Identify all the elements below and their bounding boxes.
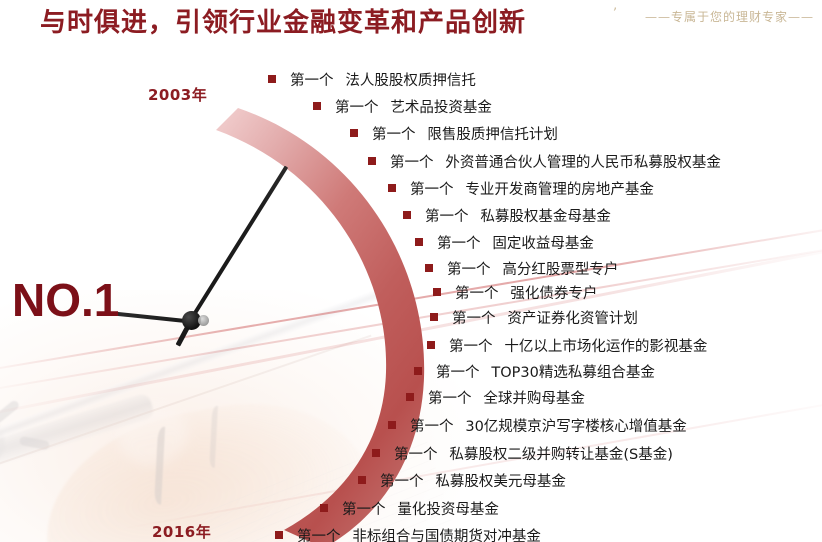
timeline-item: 第一个 法人股股权质押信托 xyxy=(268,68,476,90)
bullet-square-icon xyxy=(403,211,411,219)
bullet-square-icon xyxy=(430,313,438,321)
timeline-item: 第一个 30亿规模京沪写字楼核心增值基金 xyxy=(388,414,687,436)
bullet-square-icon xyxy=(358,476,366,484)
timeline-item-label: 第一个 私募股权二级并购转让基金(S基金) xyxy=(394,443,673,464)
timeline-item: 第一个 非标组合与国债期货对冲基金 xyxy=(275,524,541,542)
bullet-square-icon xyxy=(388,421,396,429)
timeline-item: 第一个 艺术品投资基金 xyxy=(313,95,492,117)
timeline-item-label: 第一个 TOP30精选私募组合基金 xyxy=(436,361,655,382)
timeline-item-label: 第一个 私募股权基金母基金 xyxy=(425,205,611,226)
timeline-item-label: 第一个 非标组合与国债期货对冲基金 xyxy=(297,525,541,542)
slide-canvas: 与时俱进，引领行业金融变革和产品创新 ’ ——专属于您的理财专家—— 2003年… xyxy=(0,0,822,542)
timeline-item-label: 第一个 固定收益母基金 xyxy=(437,232,594,253)
bullet-square-icon xyxy=(350,129,358,137)
bullet-square-icon xyxy=(414,367,422,375)
timeline-item: 第一个 私募股权美元母基金 xyxy=(358,469,566,491)
bullet-square-icon xyxy=(275,531,283,539)
timeline-item-label: 第一个 高分红股票型专户 xyxy=(447,258,618,279)
timeline-item-label: 第一个 全球并购母基金 xyxy=(428,387,585,408)
bullet-square-icon xyxy=(320,504,328,512)
timeline-item-label: 第一个 专业开发商管理的房地产基金 xyxy=(410,178,654,199)
timeline-item: 第一个 全球并购母基金 xyxy=(406,386,585,408)
timeline-item-label: 第一个 艺术品投资基金 xyxy=(335,96,492,117)
timeline-item: 第一个 限售股质押信托计划 xyxy=(350,122,558,144)
timeline-item-label: 第一个 私募股权美元母基金 xyxy=(380,470,566,491)
timeline-item: 第一个 量化投资母基金 xyxy=(320,497,499,519)
timeline-item: 第一个 资产证券化资管计划 xyxy=(430,306,638,328)
timeline-item: 第一个 私募股权基金母基金 xyxy=(403,204,611,226)
bullet-square-icon xyxy=(313,102,321,110)
bullet-square-icon xyxy=(372,449,380,457)
timeline-item: 第一个 专业开发商管理的房地产基金 xyxy=(388,177,654,199)
timeline-item-label: 第一个 法人股股权质押信托 xyxy=(290,69,476,90)
timeline-item-label: 第一个 资产证券化资管计划 xyxy=(452,307,638,328)
timeline-item: 第一个 私募股权二级并购转让基金(S基金) xyxy=(372,442,673,464)
timeline-item-label: 第一个 量化投资母基金 xyxy=(342,498,499,519)
bullet-square-icon xyxy=(406,393,414,401)
bullet-square-icon xyxy=(415,238,423,246)
bullet-square-icon xyxy=(268,75,276,83)
timeline-list: 第一个 法人股股权质押信托第一个 艺术品投资基金第一个 限售股质押信托计划第一个… xyxy=(0,0,822,542)
bullet-square-icon xyxy=(388,184,396,192)
bullet-square-icon xyxy=(427,341,435,349)
timeline-item: 第一个 高分红股票型专户 xyxy=(425,257,618,279)
timeline-item-label: 第一个 十亿以上市场化运作的影视基金 xyxy=(449,335,707,356)
bullet-square-icon xyxy=(368,157,376,165)
timeline-item-label: 第一个 30亿规模京沪写字楼核心增值基金 xyxy=(410,415,687,436)
timeline-item: 第一个 固定收益母基金 xyxy=(415,231,594,253)
bullet-square-icon xyxy=(433,288,441,296)
timeline-item-label: 第一个 限售股质押信托计划 xyxy=(372,123,558,144)
timeline-item: 第一个 TOP30精选私募组合基金 xyxy=(414,360,655,382)
timeline-item: 第一个 外资普通合伙人管理的人民币私募股权基金 xyxy=(368,150,721,172)
bullet-square-icon xyxy=(425,264,433,272)
timeline-item: 第一个 十亿以上市场化运作的影视基金 xyxy=(427,334,707,356)
timeline-item-label: 第一个 强化债券专户 xyxy=(455,282,597,303)
timeline-item-label: 第一个 外资普通合伙人管理的人民币私募股权基金 xyxy=(390,151,721,172)
timeline-item: 第一个 强化债券专户 xyxy=(433,281,597,303)
